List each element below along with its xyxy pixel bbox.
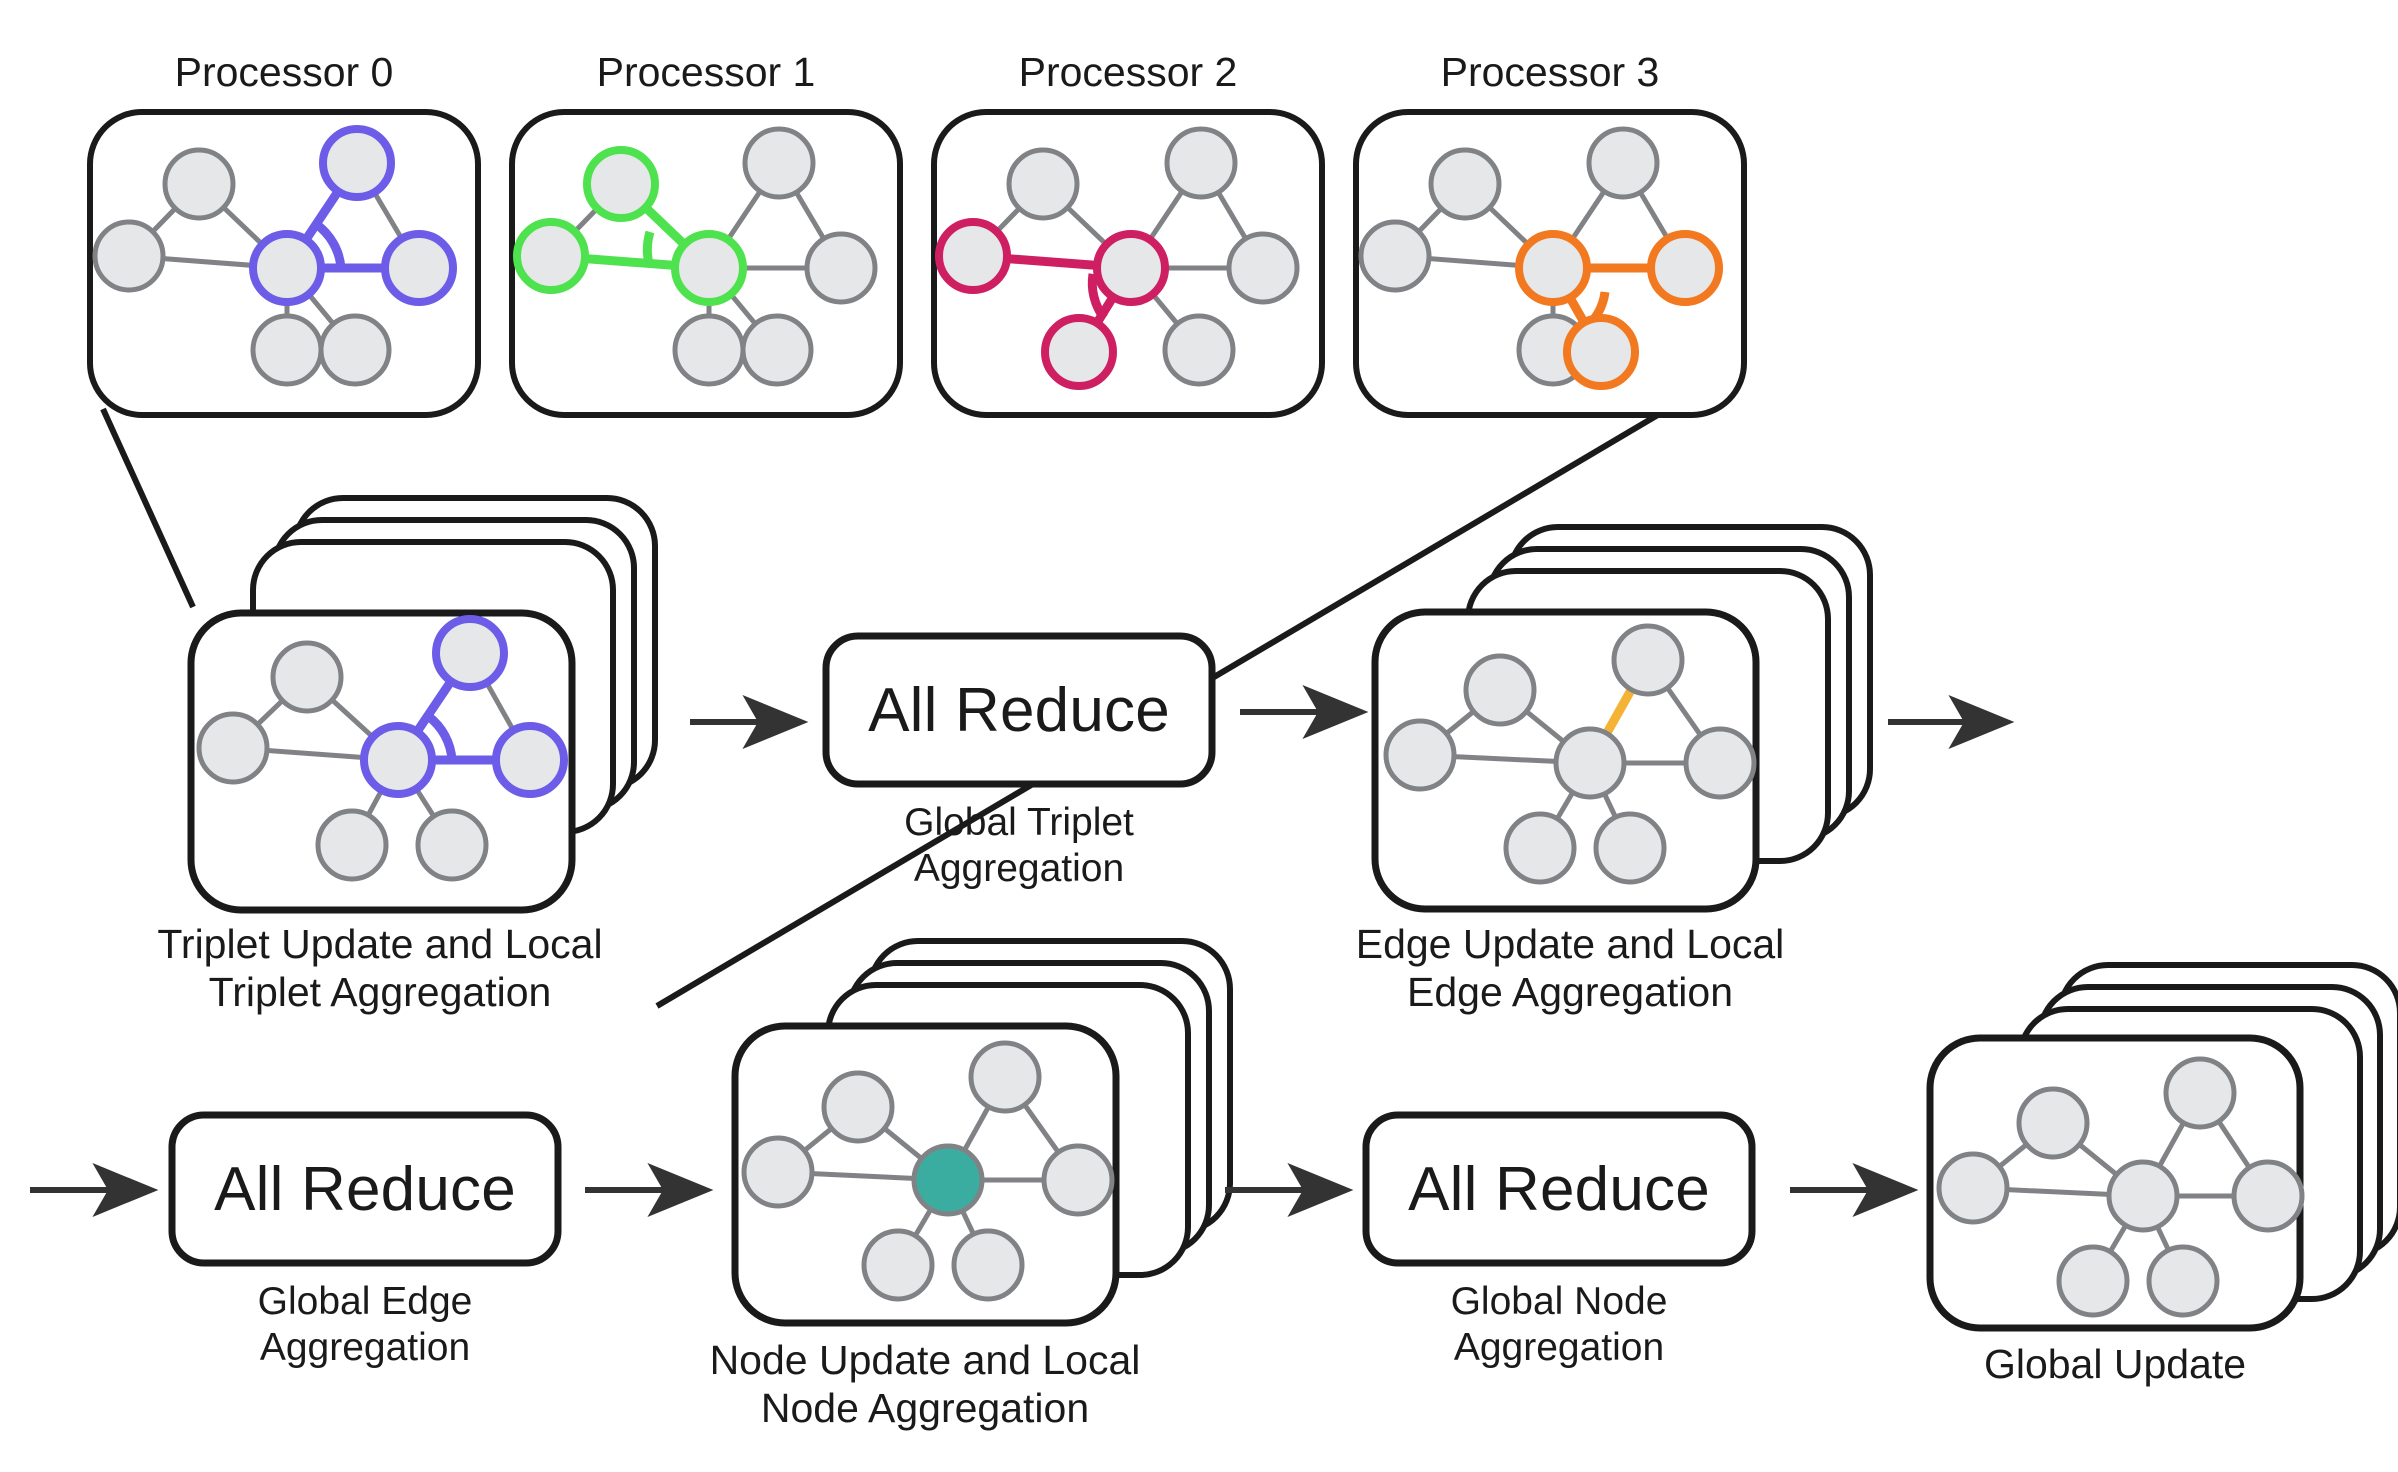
processor-2-title: Processor 2: [934, 48, 1322, 96]
node-update-caption: Node Update and Local Node Aggregation: [675, 1336, 1175, 1433]
all-reduce-edge-caption: Global Edge Aggregation: [172, 1279, 558, 1371]
processor-3-title: Processor 3: [1356, 48, 1744, 96]
processor-0-card[interactable]: [90, 112, 478, 415]
triplet-update-card[interactable]: [191, 498, 655, 910]
node-update-card[interactable]: [735, 941, 1230, 1323]
all-reduce-node-caption: Global Node Aggregation: [1366, 1279, 1752, 1371]
connector-proc0-to-triplet: [103, 409, 193, 607]
processor-3-card[interactable]: [1356, 112, 1744, 415]
processor-1-title: Processor 1: [512, 48, 900, 96]
all-reduce-node-label[interactable]: All Reduce: [1366, 1115, 1752, 1263]
all-reduce-edge-label[interactable]: All Reduce: [172, 1115, 558, 1263]
all-reduce-triplet-caption: Global Triplet Aggregation: [826, 800, 1212, 892]
all-reduce-triplet-label[interactable]: All Reduce: [826, 636, 1212, 784]
edge-update-caption: Edge Update and Local Edge Aggregation: [1320, 920, 1820, 1017]
diagram-canvas: Processor 0 Processor 1 Processor 2 Proc…: [0, 0, 2398, 1472]
processor-2-card[interactable]: [934, 112, 1322, 415]
triplet-update-caption: Triplet Update and Local Triplet Aggrega…: [130, 920, 630, 1017]
global-update-card[interactable]: [1930, 965, 2398, 1328]
processor-0-title: Processor 0: [90, 48, 478, 96]
global-update-caption: Global Update: [1865, 1340, 2365, 1388]
edge-update-card[interactable]: [1375, 527, 1870, 909]
processor-1-card[interactable]: [512, 112, 900, 415]
